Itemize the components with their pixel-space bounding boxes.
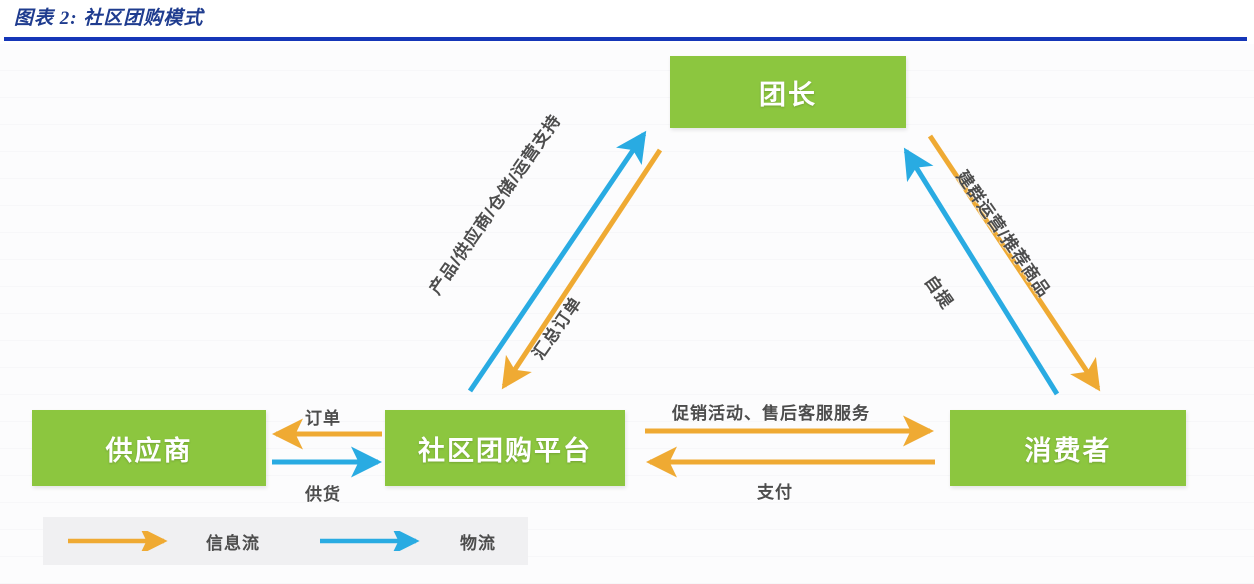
- flow-label-summary-order: 汇总订单: [525, 290, 587, 363]
- node-consumer-label: 消费者: [1025, 429, 1112, 468]
- legend-blue-arrow-icon: [320, 531, 430, 551]
- flow-label-supply: 供货: [305, 480, 341, 505]
- node-platform-label: 社区团购平台: [418, 429, 592, 468]
- arrow-product-supply: [470, 134, 644, 391]
- title-divider: [4, 37, 1247, 41]
- node-consumer[interactable]: 消费者: [950, 410, 1186, 486]
- legend-item-info-flow: 信息流: [43, 517, 260, 565]
- node-group-leader[interactable]: 团长: [670, 56, 906, 128]
- diagram-canvas: 团长 供应商 社区团购平台 消费者 订单 供货 促销活动、售后客服服务 支付 产…: [0, 44, 1254, 584]
- legend-orange-arrow-icon: [68, 531, 178, 551]
- arrow-layer: [0, 44, 1254, 584]
- flow-label-self-pickup: 自提: [920, 269, 961, 313]
- flow-label-promotion: 促销活动、售后客服服务: [672, 399, 870, 424]
- legend-label-logistics: 物流: [460, 529, 496, 554]
- flow-label-community-operation: 建群运营/推荐商品: [952, 164, 1058, 301]
- flow-label-product-supply: 产品/供应商/仓储/运营支持: [422, 108, 566, 299]
- flow-label-payment: 支付: [757, 478, 793, 503]
- legend-item-logistics: 物流: [260, 517, 496, 565]
- node-platform[interactable]: 社区团购平台: [385, 410, 625, 486]
- legend: 信息流 物流: [43, 517, 528, 565]
- flow-label-order: 订单: [305, 404, 341, 429]
- legend-label-info-flow: 信息流: [206, 529, 260, 554]
- node-supplier-label: 供应商: [106, 429, 193, 468]
- node-group-leader-label: 团长: [759, 73, 817, 112]
- node-supplier[interactable]: 供应商: [32, 410, 266, 486]
- chart-header: 图表 2: 社区团购模式: [0, 0, 1254, 44]
- page-title: 图表 2: 社区团购模式: [14, 3, 203, 30]
